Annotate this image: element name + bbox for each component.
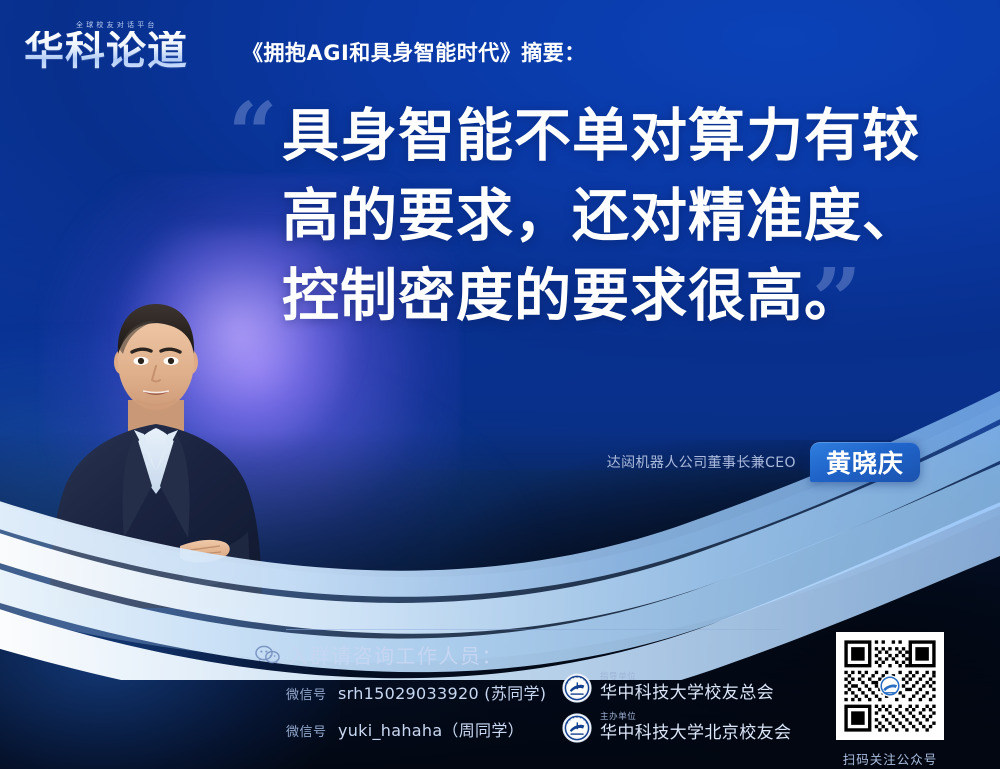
organization-kind: 指导单位 — [600, 672, 774, 683]
wechat-icon — [255, 645, 281, 665]
speaker-attribution: 达闼机器人公司董事长兼CEO 黄晓庆 — [560, 442, 920, 482]
organization-row: 指导单位 华中科技大学校友总会 — [562, 672, 774, 703]
quote-close-mark: ” — [812, 258, 861, 344]
organization-text: 主办单位 华中科技大学北京校友会 — [600, 712, 791, 743]
poster-root: 全球校友对话平台 华科论道 《拥抱AGI和具身智能时代》摘要： “ 具身智能不单… — [0, 0, 1000, 769]
organization-row: 主办单位 华中科技大学北京校友会 — [562, 712, 791, 743]
page-title: 《拥抱AGI和具身智能时代》摘要： — [242, 37, 586, 67]
qr-code-icon[interactable] — [836, 632, 944, 740]
qr-block: 扫码关注公众号 — [836, 632, 954, 768]
contact-label: 微信号 — [286, 725, 327, 740]
speaker-name-badge: 黄晓庆 — [810, 442, 920, 482]
hust-emblem-icon — [562, 673, 592, 703]
speaker-role: 达闼机器人公司董事长兼CEO — [607, 452, 796, 472]
hust-emblem-icon — [562, 713, 592, 743]
contact-row: 微信号 yuki_hahaha（周同学） — [286, 717, 524, 741]
contact-label: 微信号 — [286, 688, 327, 703]
logo-tagline: 全球校友对话平台 — [76, 20, 158, 30]
logo-wordmark: 华科论道 — [24, 31, 220, 71]
footer-heading: 入群请咨询工作人员： — [288, 640, 503, 669]
footer-divider — [286, 629, 780, 630]
quote-open-mark: “ — [228, 92, 277, 178]
organization-text: 指导单位 华中科技大学校友总会 — [600, 672, 774, 703]
qr-caption: 扫码关注公众号 — [836, 749, 944, 768]
brand-logo: 全球校友对话平台 华科论道 — [24, 21, 220, 71]
organization-kind: 主办单位 — [600, 712, 791, 723]
quote-line: 具身智能不单对算力有较 — [282, 96, 962, 176]
poster-header: 全球校友对话平台 华科论道 《拥抱AGI和具身智能时代》摘要： — [0, 0, 1000, 92]
contact-row: 微信号 srh15029033920 (苏同学) — [286, 680, 546, 704]
quote-line: 高的要求，还对精准度、 — [282, 176, 962, 256]
organization-name: 华中科技大学校友总会 — [600, 683, 774, 703]
contact-value[interactable]: yuki_hahaha（周同学） — [338, 721, 524, 740]
organization-name: 华中科技大学北京校友会 — [600, 723, 791, 743]
contact-value[interactable]: srh15029033920 (苏同学) — [338, 684, 546, 703]
